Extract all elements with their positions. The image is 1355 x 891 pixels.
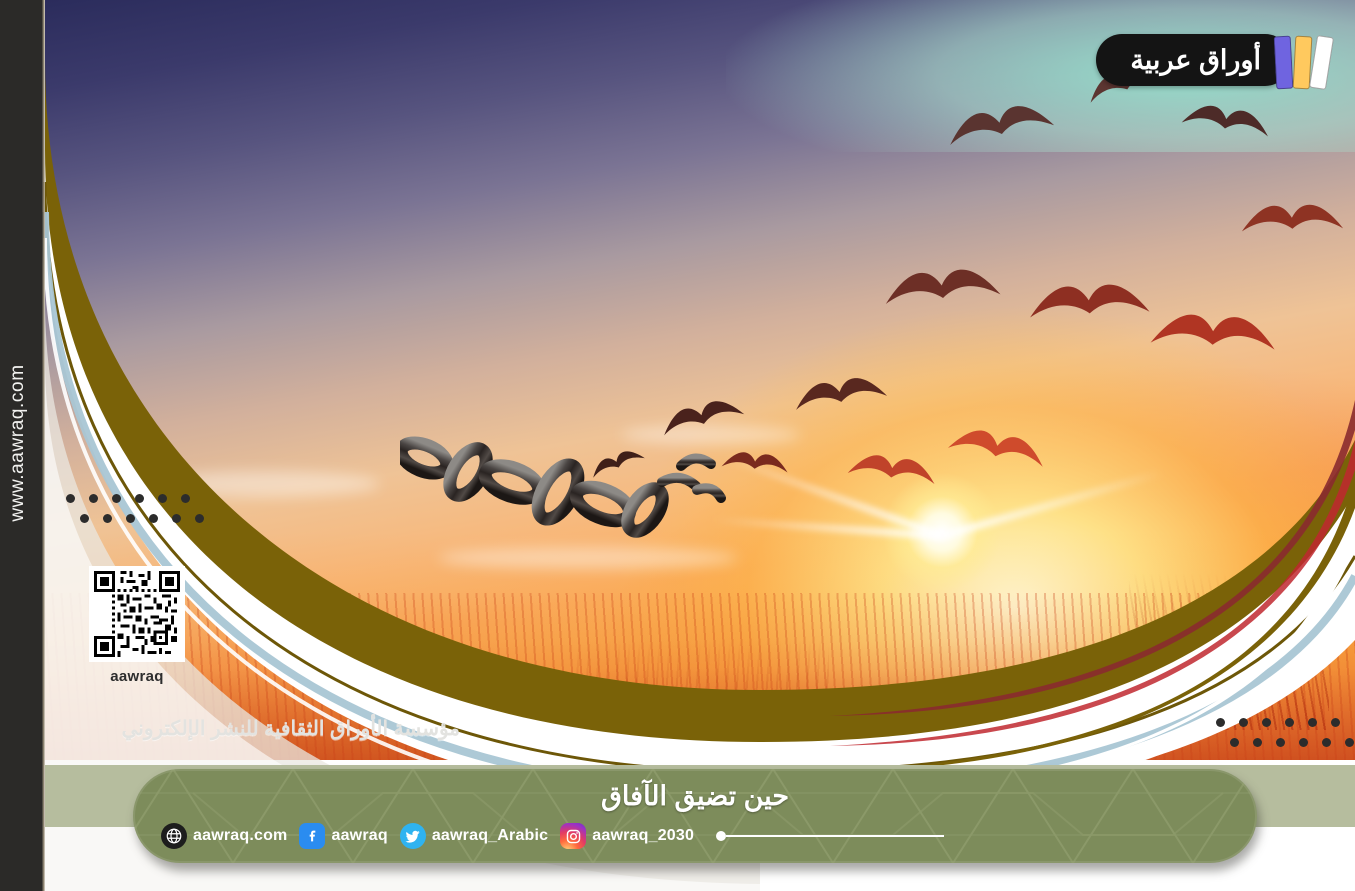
book-title: حين تضيق الآفاق xyxy=(133,781,1257,812)
book-spine-white xyxy=(1309,35,1334,90)
grass-right xyxy=(1129,560,1329,730)
book-cover-stage: www.aawraq.com أوراق عربية xyxy=(0,0,1355,891)
rule-line xyxy=(726,835,944,837)
bird xyxy=(1238,193,1346,247)
dot xyxy=(89,494,98,503)
social-item-website[interactable]: aawraq.com xyxy=(161,823,287,849)
social-item-instagram[interactable]: aawraq_2030 xyxy=(560,823,694,849)
dot-row xyxy=(1230,738,1354,747)
social-trailing-rule xyxy=(716,831,944,841)
social-item-twitter[interactable]: aawraq_Arabic xyxy=(400,823,548,849)
dot-grid-right xyxy=(1216,718,1354,747)
book-spine-purple xyxy=(1274,36,1294,90)
bottom-band: حين تضيق الآفاق aawraq.com xyxy=(133,769,1257,863)
social-item-facebook[interactable]: aawraq xyxy=(299,823,387,849)
dot xyxy=(1322,738,1331,747)
bird xyxy=(719,445,790,481)
dot xyxy=(172,514,181,523)
books-icon xyxy=(1275,31,1337,89)
qr-label: aawraq xyxy=(89,668,185,685)
bird xyxy=(1024,270,1152,336)
dot xyxy=(103,514,112,523)
cover-artwork xyxy=(45,0,1355,760)
social-handle-instagram: aawraq_2030 xyxy=(592,827,694,845)
social-handle-facebook: aawraq xyxy=(331,827,387,845)
brand-logo-name: أوراق عربية xyxy=(1096,34,1291,86)
dot xyxy=(181,494,190,503)
dot xyxy=(1239,718,1248,727)
qr-block[interactable]: aawraq xyxy=(89,566,185,685)
bird xyxy=(1147,302,1279,366)
social-links: aawraq.com aawraq aawraq_Arabic xyxy=(161,822,944,850)
globe-icon xyxy=(161,823,187,849)
spine-website: www.aawraq.com xyxy=(7,233,29,653)
dot xyxy=(1276,738,1285,747)
qr-code[interactable] xyxy=(89,566,185,662)
publisher-name: مؤسسة الأوراق الثقافية للنشر الإلكتروني xyxy=(0,716,460,741)
twitter-icon xyxy=(400,823,426,849)
dot xyxy=(1253,738,1262,747)
social-handle-website: aawraq.com xyxy=(193,827,287,845)
dot xyxy=(126,514,135,523)
spine-edge xyxy=(42,0,45,891)
dot xyxy=(66,494,75,503)
rule-dot xyxy=(716,831,726,841)
dot xyxy=(1345,738,1354,747)
dot xyxy=(1299,738,1308,747)
dot-row xyxy=(66,494,204,503)
dot xyxy=(1308,718,1317,727)
brand-logo[interactable]: أوراق عربية xyxy=(1096,34,1337,86)
broken-chain xyxy=(400,432,730,552)
spine-text-wrap: www.aawraq.com xyxy=(0,0,42,891)
dot xyxy=(158,494,167,503)
grass-left xyxy=(569,635,829,745)
dot xyxy=(149,514,158,523)
dot xyxy=(112,494,121,503)
dot xyxy=(1285,718,1294,727)
dot-row xyxy=(1216,718,1354,727)
dot xyxy=(80,514,89,523)
dot-grid-left xyxy=(66,494,204,523)
instagram-icon xyxy=(560,823,586,849)
dot-row xyxy=(80,514,204,523)
dot xyxy=(195,514,204,523)
social-handle-twitter: aawraq_Arabic xyxy=(432,827,548,845)
dot xyxy=(1331,718,1340,727)
dot xyxy=(1216,718,1225,727)
dot xyxy=(1262,718,1271,727)
facebook-icon xyxy=(299,823,325,849)
dot xyxy=(135,494,144,503)
dot xyxy=(1230,738,1239,747)
